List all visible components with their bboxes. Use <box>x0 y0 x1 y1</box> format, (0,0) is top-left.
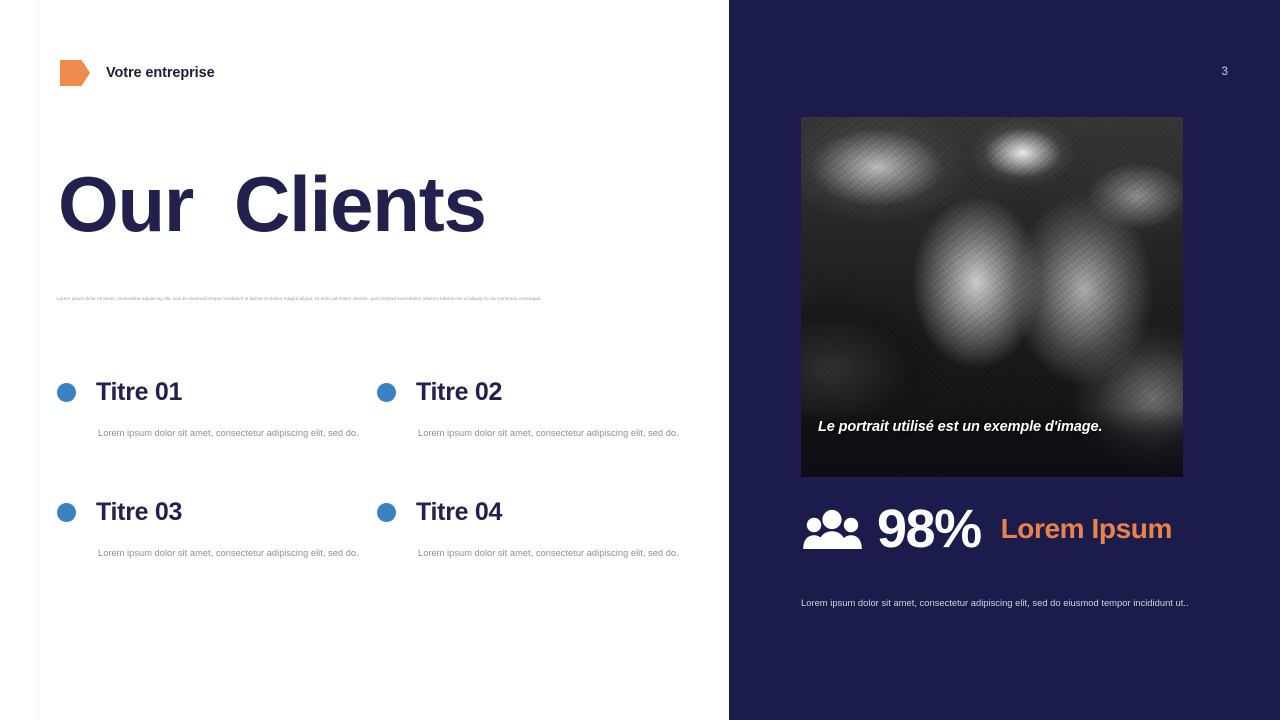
feature-grid: Titre 01 Lorem ipsum dolor sit amet, con… <box>57 378 697 618</box>
bullet-circle-icon <box>57 503 76 522</box>
brand-lockup: Votre entreprise <box>60 60 215 86</box>
feature-description: Lorem ipsum dolor sit amet, consectetur … <box>98 428 377 438</box>
feature-header: Titre 01 <box>57 378 377 407</box>
people-group-icon <box>801 508 863 550</box>
feature-item-1: Titre 01 Lorem ipsum dolor sit amet, con… <box>57 378 377 498</box>
bullet-circle-icon <box>57 383 76 402</box>
stat-label: Lorem Ipsum <box>1001 515 1172 543</box>
feature-item-4: Titre 04 Lorem ipsum dolor sit amet, con… <box>377 498 697 618</box>
stat-value: 98% <box>877 502 981 556</box>
feature-header: Titre 04 <box>377 498 697 527</box>
feature-item-3: Titre 03 Lorem ipsum dolor sit amet, con… <box>57 498 377 618</box>
bullet-circle-icon <box>377 503 396 522</box>
vertical-divider <box>38 0 39 720</box>
feature-title: Titre 03 <box>96 498 182 527</box>
brand-name: Votre entreprise <box>106 65 215 81</box>
feature-header: Titre 03 <box>57 498 377 527</box>
arrow-pentagon-mark-icon <box>60 60 90 86</box>
feature-description: Lorem ipsum dolor sit amet, consectetur … <box>418 428 697 438</box>
feature-item-2: Titre 02 Lorem ipsum dolor sit amet, con… <box>377 378 697 498</box>
photo-caption: Le portrait utilisé est un exemple d'ima… <box>801 409 1183 477</box>
feature-title: Titre 04 <box>416 498 502 527</box>
stat-note: Lorem ipsum dolor sit amet, consectetur … <box>801 597 1201 608</box>
feature-title: Titre 02 <box>416 378 502 407</box>
feature-description: Lorem ipsum dolor sit amet, consectetur … <box>418 548 697 558</box>
slide: Votre entreprise Our Clients Lorem ipsum… <box>0 0 1280 720</box>
intro-paragraph: Lorem ipsum dolor sit amet, consectetur … <box>57 296 657 303</box>
portrait-photo: Le portrait utilisé est un exemple d'ima… <box>801 117 1183 477</box>
photo-caption-text: Le portrait utilisé est un exemple d'ima… <box>818 419 1102 435</box>
page-number: 3 <box>1221 64 1228 78</box>
feature-header: Titre 02 <box>377 378 697 407</box>
statistic-row: 98% Lorem Ipsum <box>801 502 1201 556</box>
bullet-circle-icon <box>377 383 396 402</box>
page-title: Our Clients <box>58 165 486 243</box>
right-media-panel: 3 Le portrait utilisé est un exemple d'i… <box>729 0 1280 720</box>
feature-title: Titre 01 <box>96 378 182 407</box>
feature-description: Lorem ipsum dolor sit amet, consectetur … <box>98 548 377 558</box>
left-content-panel: Votre entreprise Our Clients Lorem ipsum… <box>0 0 729 720</box>
